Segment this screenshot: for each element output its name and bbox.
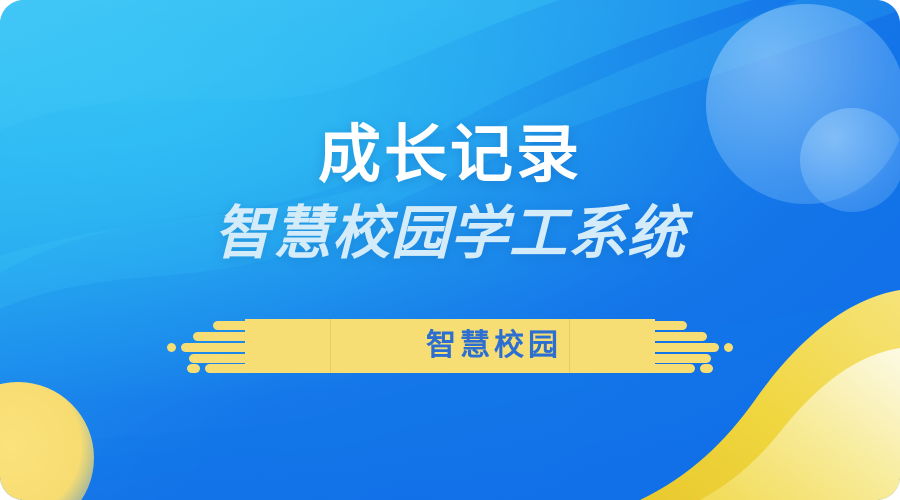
banner-content: 成长记录 智慧校园学工系统 bbox=[0, 0, 900, 500]
speed-lines-right-icon bbox=[643, 319, 733, 373]
promo-banner: 成长记录 智慧校园学工系统 bbox=[0, 0, 900, 500]
speed-lines-left-icon bbox=[167, 319, 257, 373]
page-subtitle: 智慧校园学工系统 bbox=[214, 204, 686, 262]
ribbon-container: 智慧校园 bbox=[0, 318, 900, 374]
page-title: 成长记录 bbox=[318, 123, 582, 186]
ribbon: 智慧校园 bbox=[245, 319, 655, 373]
ribbon-label: 智慧校园 bbox=[426, 331, 562, 361]
